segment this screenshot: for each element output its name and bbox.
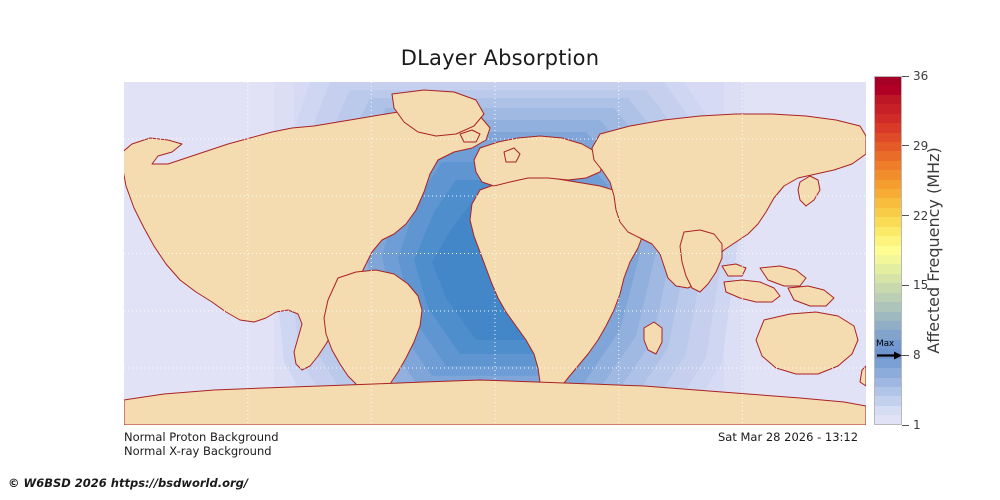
- colorbar-band: [874, 76, 902, 85]
- colorbar-band: [874, 302, 902, 311]
- colorbar-band: [874, 387, 902, 396]
- colorbar-band: [874, 236, 902, 245]
- colorbar-band: [874, 123, 902, 132]
- colorbar-band: [874, 378, 902, 387]
- colorbar-band: [874, 133, 902, 142]
- colorbar-tick: 1: [902, 419, 921, 431]
- timestamp: Sat Mar 28 2026 - 13:12: [718, 430, 858, 444]
- colorbar-max-marker: Max: [876, 340, 902, 362]
- colorbar-band: [874, 189, 902, 198]
- colorbar-band: [874, 368, 902, 377]
- colorbar-band: [874, 312, 902, 321]
- colorbar-band: [874, 170, 902, 179]
- colorbar[interactable]: [874, 76, 902, 425]
- page-title: DLayer Absorption: [0, 46, 1000, 70]
- colorbar-band: [874, 293, 902, 302]
- colorbar-band: [874, 85, 902, 94]
- colorbar-band: [874, 246, 902, 255]
- colorbar-tick: 8: [902, 349, 921, 361]
- colorbar-band: [874, 396, 902, 405]
- colorbar-tick-mark: [902, 355, 909, 356]
- colorbar-band: [874, 95, 902, 104]
- colorbar-band: [874, 104, 902, 113]
- colorbar-band: [874, 198, 902, 207]
- colorbar-band: [874, 274, 902, 283]
- colorbar-tick-mark: [902, 285, 909, 286]
- colorbar-axis-label: Affected Frequency (MHz): [922, 76, 944, 425]
- note-xray-background: Normal X-ray Background: [124, 444, 272, 458]
- colorbar-tick-mark: [902, 425, 909, 426]
- colorbar-tick-mark: [902, 215, 909, 216]
- max-arrow-icon: [876, 351, 902, 360]
- colorbar-band: [874, 321, 902, 330]
- colorbar-band: [874, 161, 902, 170]
- figure-canvas: DLayer Absorption: [0, 0, 1000, 500]
- colorbar-band: [874, 180, 902, 189]
- map-plot-area[interactable]: [124, 82, 866, 425]
- world-map: [124, 82, 866, 425]
- colorbar-tick-mark: [902, 76, 909, 77]
- colorbar-band: [874, 142, 902, 151]
- note-proton-background: Normal Proton Background: [124, 430, 279, 444]
- colorbar-tick-label: 1: [913, 419, 921, 431]
- colorbar-band: [874, 264, 902, 273]
- colorbar-tick-mark: [902, 145, 909, 146]
- copyright-credit: © W6BSD 2026 https://bsdworld.org/: [8, 476, 248, 490]
- colorbar-band: [874, 406, 902, 415]
- colorbar-band: [874, 151, 902, 160]
- colorbar-band: [874, 114, 902, 123]
- max-marker-label: Max: [876, 340, 902, 349]
- colorbar-band: [874, 227, 902, 236]
- colorbar-band: [874, 255, 902, 264]
- colorbar-band: [874, 217, 902, 226]
- colorbar-band: [874, 283, 902, 292]
- colorbar-band: [874, 208, 902, 217]
- colorbar-band: [874, 415, 902, 424]
- colorbar-tick-label: 8: [913, 349, 921, 361]
